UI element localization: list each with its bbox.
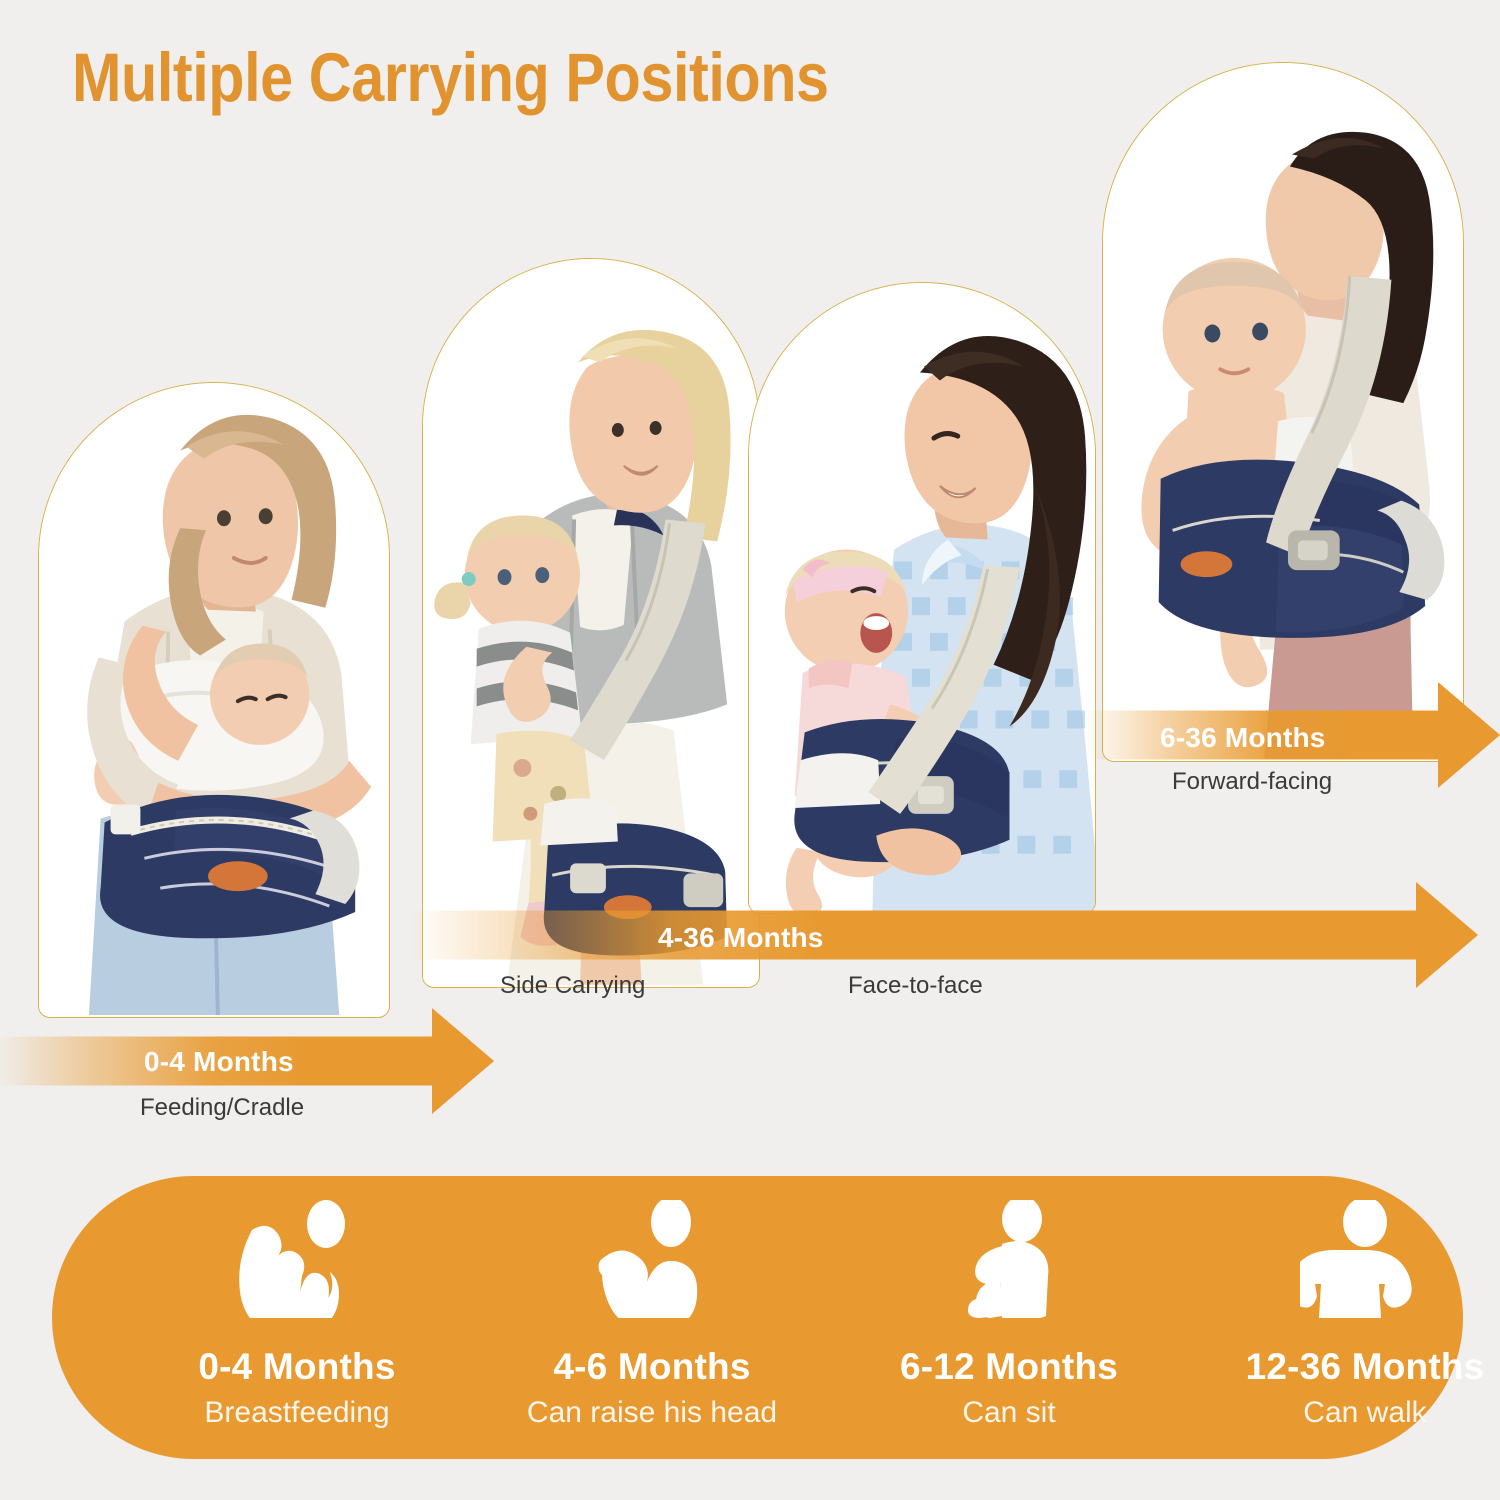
photo-frame-forward-facing bbox=[1102, 62, 1464, 762]
arrow-4-36-sublabel-side-carrying: Side Carrying bbox=[500, 972, 645, 1000]
infographic-canvas: Multiple Carrying Positions bbox=[0, 0, 1500, 1500]
arrow-shaft bbox=[410, 911, 1416, 960]
photo-side-carrying bbox=[423, 259, 759, 985]
photo-face-to-face bbox=[749, 283, 1095, 911]
arrow-6-36-sublabel-forward-facing: Forward-facing bbox=[1172, 768, 1332, 796]
arrow-0-4-label: 0-4 Months bbox=[144, 1046, 294, 1078]
baby-sitting-icon bbox=[944, 1200, 1074, 1318]
arrow-head bbox=[1438, 682, 1500, 788]
milestone-age: 0-4 Months bbox=[112, 1346, 482, 1388]
milestone-age: 6-12 Months bbox=[824, 1346, 1194, 1388]
arrow-4-36-sublabel-face-to-face: Face-to-face bbox=[848, 972, 983, 1000]
baby-head-up-icon bbox=[587, 1200, 717, 1318]
milestone-age: 12-36 Months bbox=[1180, 1346, 1500, 1388]
arrow-0-4-sublabel-feeding-cradle: Feeding/Cradle bbox=[140, 1094, 304, 1122]
arrow-6-36-label: 6-36 Months bbox=[1160, 722, 1326, 754]
milestone-ability: Can sit bbox=[824, 1396, 1194, 1430]
arrow-head bbox=[1416, 882, 1478, 988]
arrow-4-36-label: 4-36 Months bbox=[658, 922, 824, 954]
baby-lying-icon bbox=[232, 1200, 362, 1318]
milestone-age: 4-6 Months bbox=[467, 1346, 837, 1388]
milestone-ability: Can walk bbox=[1180, 1396, 1500, 1430]
photo-frame-side-carrying bbox=[422, 258, 760, 988]
milestone-ability: Breastfeeding bbox=[112, 1396, 482, 1430]
milestone-6-12-months: 6-12 Months Can sit bbox=[824, 1176, 1194, 1459]
photo-frame-face-to-face bbox=[748, 282, 1096, 914]
page-title: Multiple Carrying Positions bbox=[72, 38, 829, 117]
photo-frame-feeding-cradle bbox=[38, 382, 390, 1018]
milestone-0-4-months: 0-4 Months Breastfeeding bbox=[112, 1176, 482, 1459]
milestone-panel: 0-4 Months Breastfeeding 4-6 Months Can … bbox=[52, 1176, 1463, 1459]
baby-standing-icon bbox=[1300, 1200, 1430, 1318]
photo-feeding-cradle bbox=[39, 383, 389, 1015]
milestone-12-36-months: 12-36 Months Can walk bbox=[1180, 1176, 1500, 1459]
milestone-4-6-months: 4-6 Months Can raise his head bbox=[467, 1176, 837, 1459]
photo-forward-facing bbox=[1103, 63, 1463, 759]
arrow-head bbox=[432, 1008, 494, 1114]
milestone-ability: Can raise his head bbox=[467, 1396, 837, 1430]
